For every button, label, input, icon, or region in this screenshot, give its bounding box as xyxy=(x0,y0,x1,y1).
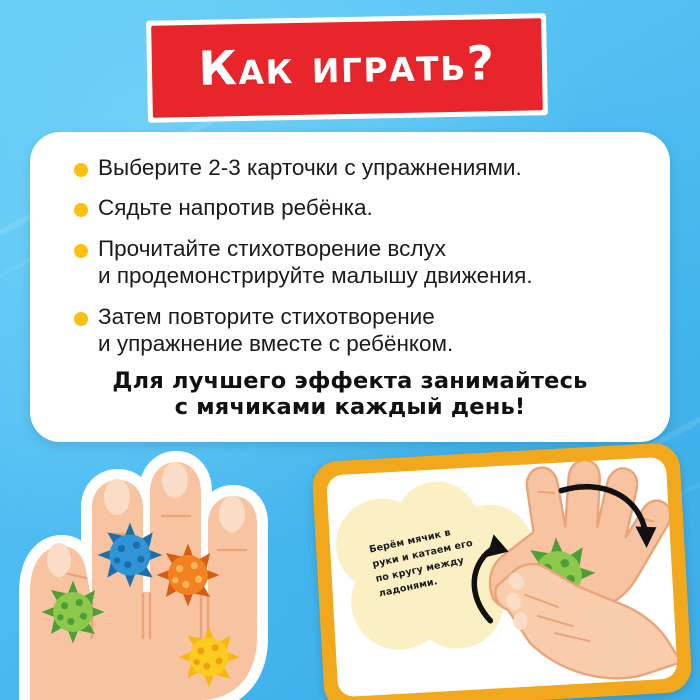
instructions-list: Выберите 2-3 карточки с упражнениями. Ся… xyxy=(74,154,646,371)
poster-canvas: Как играть? Выберите 2-3 карточки с упра… xyxy=(0,0,700,700)
list-item-label: Сядьте напротив ребёнка. xyxy=(98,194,373,221)
list-item-label: Прочитайте стихотворение вслух и продемо… xyxy=(98,235,533,290)
exercise-card-inner: Берём мячик в руки и катаем его по кругу… xyxy=(326,457,678,698)
list-item-label: Затем повторите стихотворение и упражнен… xyxy=(98,303,453,358)
bullet-dot-icon xyxy=(74,312,88,326)
banner-red-plate: Как играть? xyxy=(151,18,543,117)
bullet-dot-icon xyxy=(74,203,88,217)
list-item-label: Выберите 2-3 карточки с упражнениями. xyxy=(98,154,522,181)
page-title: Как играть? xyxy=(198,40,496,97)
list-item: Прочитайте стихотворение вслух и продемо… xyxy=(74,235,646,290)
bullet-dot-icon xyxy=(74,163,88,177)
list-item: Сядьте напротив ребёнка. xyxy=(74,194,646,221)
hand-with-massage-ball-rings xyxy=(0,442,272,700)
list-item: Затем повторите стихотворение и упражнен… xyxy=(74,303,646,358)
instructions-card: Выберите 2-3 карточки с упражнениями. Ся… xyxy=(30,132,670,442)
list-item: Выберите 2-3 карточки с упражнениями. xyxy=(74,154,646,181)
two-hands-rolling-ball-illustration xyxy=(434,457,678,694)
title-banner: Как играть? xyxy=(151,18,543,117)
exercise-card[interactable]: Берём мячик в руки и катаем его по кругу… xyxy=(311,442,692,700)
highlight-note: Для лучшего эффекта занимайтесь с мячика… xyxy=(30,368,670,420)
bullet-dot-icon xyxy=(74,244,88,258)
